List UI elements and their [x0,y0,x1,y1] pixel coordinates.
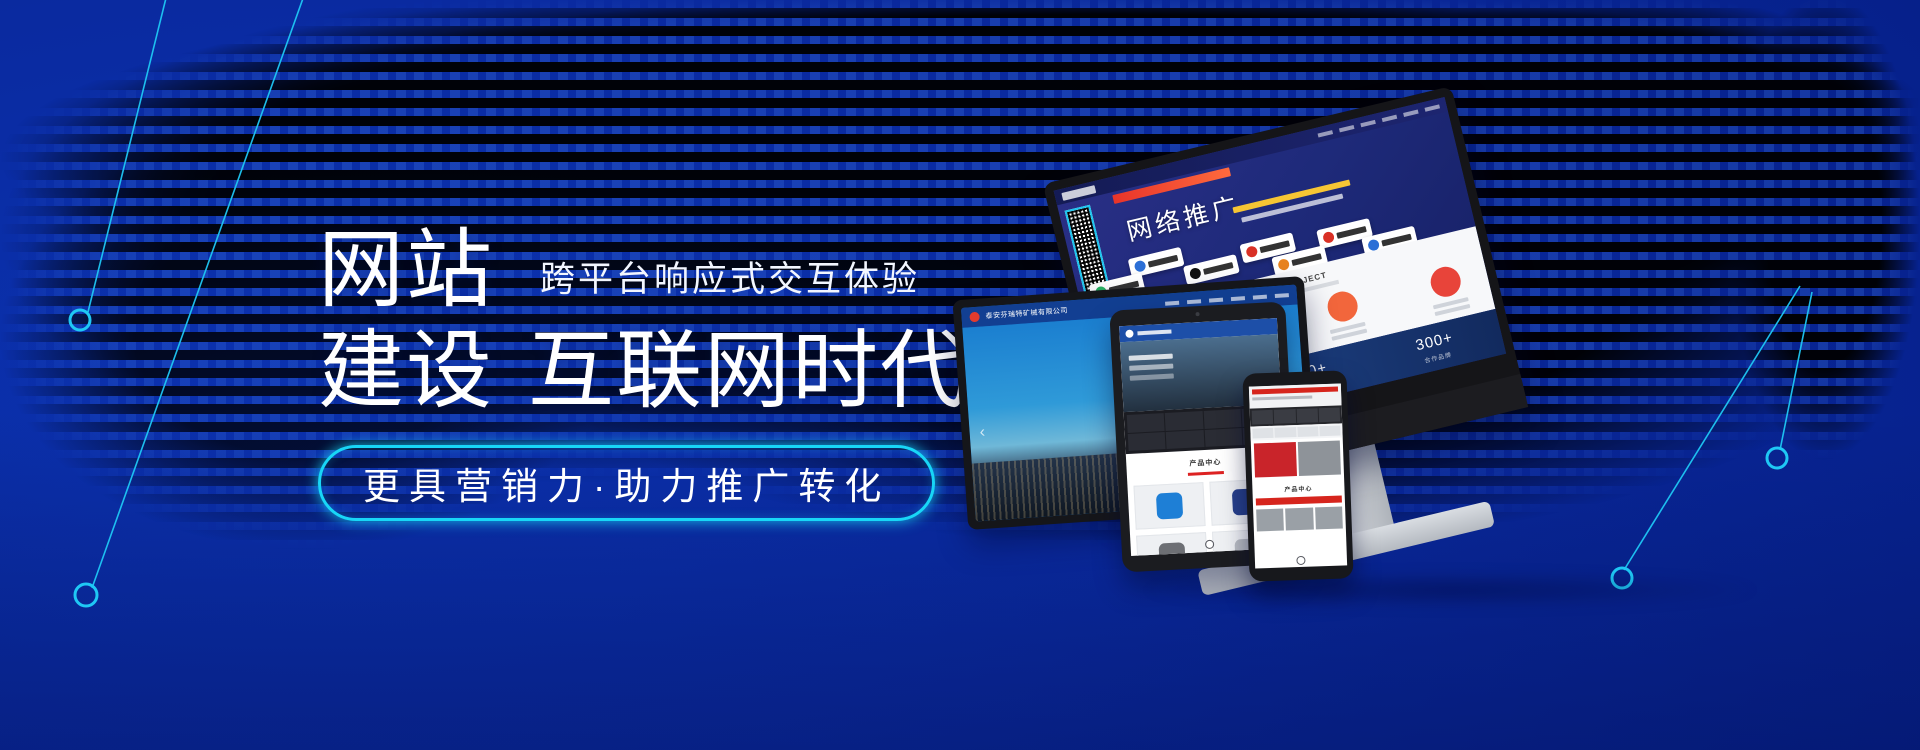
tablet-menu-item[interactable] [1128,432,1166,451]
phone-product-gallery [1253,506,1346,531]
phone-nav-item[interactable] [1274,409,1296,424]
site-nav-item[interactable] [1339,124,1355,131]
site-nav-item[interactable] [1382,114,1398,121]
phone-home-button[interactable] [1296,556,1305,565]
service-icon [1325,288,1361,324]
tablet-menu-item[interactable] [1165,411,1203,430]
service-icon [1428,264,1464,300]
phone-nav-item[interactable] [1275,427,1297,438]
laptop-nav-item[interactable] [1165,301,1179,306]
laptop-nav-item[interactable] [1187,299,1201,304]
phone-product-thumb[interactable] [1315,506,1343,529]
phone-mockup: 产品中心 [1242,370,1353,582]
deco-circle-2 [75,584,97,606]
phone-screen: 产品中心 [1249,383,1347,568]
phone-section-title: 产品中心 [1252,482,1344,494]
tablet-camera-icon [1195,312,1199,316]
service-item[interactable] [1314,286,1376,346]
tablet-hero-text [1129,354,1173,361]
phone-product-thumb[interactable] [1256,509,1284,532]
site-nav-item[interactable] [1424,104,1440,111]
carousel-prev-icon[interactable]: ‹ [979,424,986,442]
phone-header-subtext [1252,395,1312,400]
laptop-nav-item[interactable] [1209,298,1223,303]
headline-primary-line2b: 互联网时代 [528,324,968,419]
tablet-menu-item[interactable] [1166,430,1204,449]
laptop-nav-item[interactable] [1275,293,1289,298]
headline-subtitle: 跨平台响应式交互体验 [540,251,920,302]
phone-product-thumb[interactable] [1285,508,1313,531]
monitor-site-topbar [1054,97,1448,205]
phone-header-banner [1252,387,1338,395]
laptop-site-logo-icon [969,312,980,323]
phone-nav-item[interactable] [1252,428,1274,439]
tablet-menu-item[interactable] [1127,413,1165,432]
headline-primary-line2a: 建设 [318,324,494,419]
laptop-nav-item[interactable] [1231,296,1245,301]
device-mockup-cluster: 网络推广 SERVICE PROJECT [1080,110,1920,670]
product-card[interactable] [1133,482,1205,530]
laptop-site-brand: 泰安芬瑞特矿械有限公司 [985,306,1068,322]
site-nav-item[interactable] [1403,109,1419,116]
phone-feature-row [1251,437,1344,480]
laptop-nav-item[interactable] [1253,295,1267,300]
site-nav-item[interactable] [1360,119,1376,126]
hero-banner: 网站 跨平台响应式交互体验 建设 互联网时代 更具营销力·助力推广转化 [0,0,1920,750]
phone-feature-card[interactable] [1298,441,1341,476]
phone-feature-card[interactable] [1254,442,1297,477]
tablet-section-underline [1188,471,1224,476]
phone-site-header [1249,383,1342,408]
product-card[interactable] [1136,532,1208,556]
deco-line-1 [88,0,168,312]
phone-nav-item[interactable] [1319,425,1341,436]
tablet-site-logo-icon [1125,330,1133,338]
site-logo-icon [1061,185,1096,201]
phone-section-bar [1256,495,1342,505]
deco-circle-1 [70,310,90,330]
deco-line-2 [92,0,306,588]
tablet-menu-item[interactable] [1203,409,1241,428]
tablet-menu-item[interactable] [1204,428,1242,447]
tagline-pill: 更具营销力·助力推广转化 [318,445,935,521]
phone-nav-item[interactable] [1296,408,1318,423]
service-item[interactable] [1417,261,1479,321]
phone-nav-item[interactable] [1252,410,1274,425]
headline-primary-line1: 网站 [318,222,494,318]
site-nav-item[interactable] [1317,130,1333,137]
tablet-site-brand [1137,330,1171,336]
phone-nav-item[interactable] [1318,408,1340,423]
phone-body: 产品中心 [1242,370,1353,582]
phone-nav-item[interactable] [1297,426,1319,437]
